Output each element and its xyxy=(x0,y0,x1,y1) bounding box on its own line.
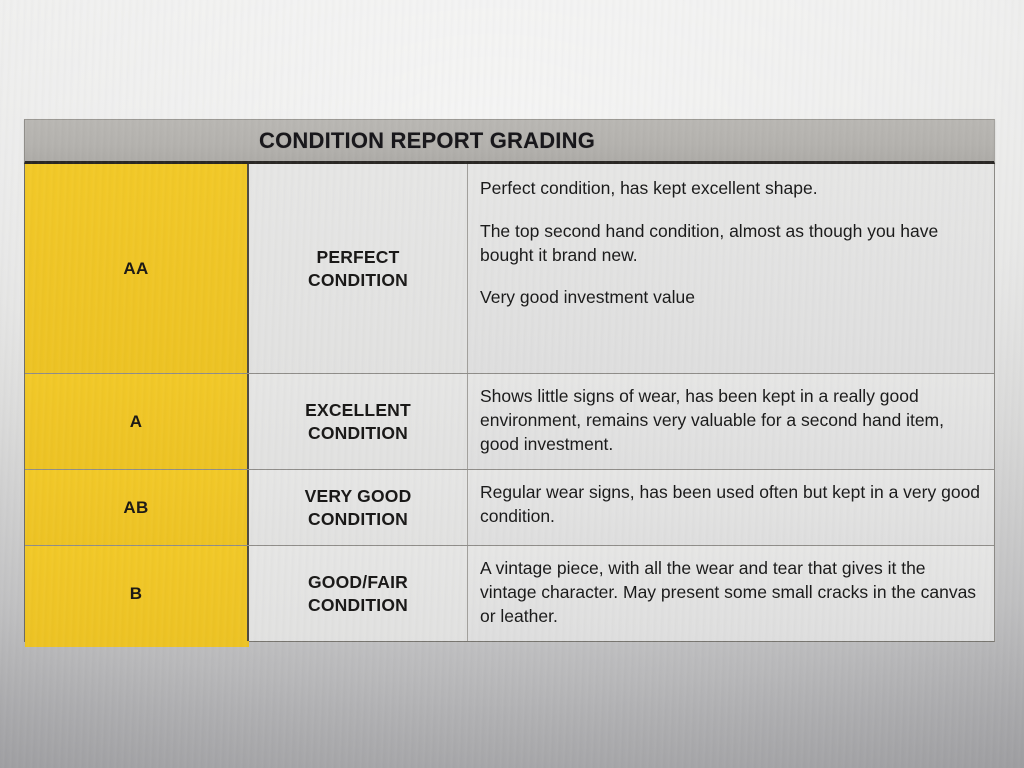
condition-title-line-1: VERY GOOD xyxy=(305,485,412,507)
description-paragraph: The top second hand condition, almost as… xyxy=(480,220,982,268)
table-body: AA PERFECT CONDITION Perfect condition, … xyxy=(24,164,995,642)
condition-description-cell: Perfect condition, has kept excellent sh… xyxy=(468,164,994,373)
condition-title-cell: VERY GOOD CONDITION xyxy=(249,470,468,545)
table-row: AB VERY GOOD CONDITION Regular wear sign… xyxy=(25,470,994,546)
condition-title-line-2: CONDITION xyxy=(308,422,408,444)
condition-report-grading-table: CONDITION REPORT GRADING AA PERFECT COND… xyxy=(24,119,995,642)
grade-cell: AB xyxy=(25,470,249,545)
condition-description-cell: Shows little signs of wear, has been kep… xyxy=(468,374,994,469)
grade-label: B xyxy=(130,584,143,604)
page-title: CONDITION REPORT GRADING xyxy=(259,128,595,154)
condition-title-cell: GOOD/FAIR CONDITION xyxy=(249,546,468,641)
condition-title-cell: PERFECT CONDITION xyxy=(249,164,468,373)
table-row: AA PERFECT CONDITION Perfect condition, … xyxy=(25,164,994,374)
condition-title-line-2: CONDITION xyxy=(308,269,408,291)
condition-description-cell: Regular wear signs, has been used often … xyxy=(468,470,994,545)
grade-cell: B xyxy=(25,546,249,641)
condition-title-line-2: CONDITION xyxy=(308,594,408,616)
condition-title-line-1: PERFECT xyxy=(316,246,399,268)
grade-label: AA xyxy=(123,259,148,279)
grade-cell: A xyxy=(25,374,249,469)
condition-title-cell: EXCELLENT CONDITION xyxy=(249,374,468,469)
grade-cell: AA xyxy=(25,164,249,373)
condition-description-cell: A vintage piece, with all the wear and t… xyxy=(468,546,994,641)
table-row: A EXCELLENT CONDITION Shows little signs… xyxy=(25,374,994,470)
table-row: B GOOD/FAIR CONDITION A vintage piece, w… xyxy=(25,546,994,641)
description-paragraph: A vintage piece, with all the wear and t… xyxy=(480,557,982,628)
table-header-bar: CONDITION REPORT GRADING xyxy=(24,119,995,164)
photo-backdrop: CONDITION REPORT GRADING AA PERFECT COND… xyxy=(0,0,1024,768)
grade-label: AB xyxy=(123,498,148,518)
description-paragraph: Very good investment value xyxy=(480,286,982,310)
description-paragraph: Perfect condition, has kept excellent sh… xyxy=(480,177,982,201)
condition-title-line-1: GOOD/FAIR xyxy=(308,571,408,593)
condition-title-line-2: CONDITION xyxy=(308,508,408,530)
description-paragraph: Regular wear signs, has been used often … xyxy=(480,481,982,529)
description-paragraph: Shows little signs of wear, has been kep… xyxy=(480,385,982,456)
grade-label: A xyxy=(130,412,143,432)
condition-title-line-1: EXCELLENT xyxy=(305,399,411,421)
